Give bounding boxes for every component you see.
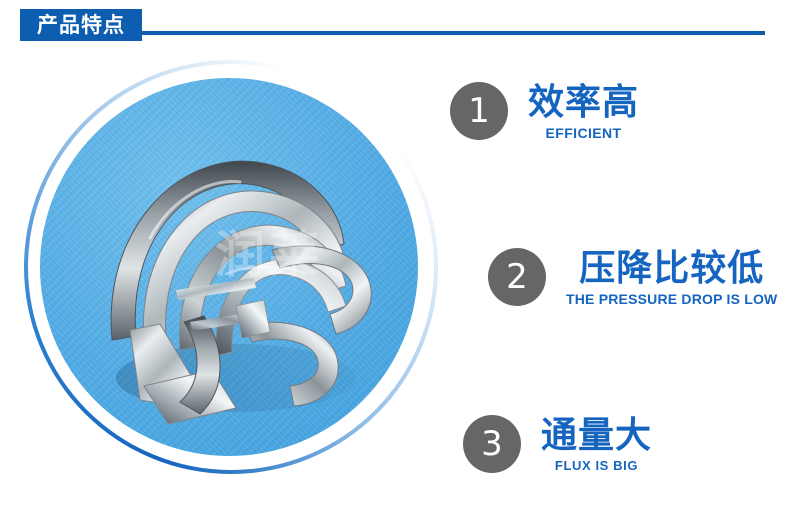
feature-item-efficient: 1 效率高 EFFICIENT (450, 82, 639, 142)
section-header: 产品特点 (0, 0, 790, 55)
feature-subtitle-en: THE PRESSURE DROP IS LOW (566, 291, 777, 308)
feature-number-badge: 2 (488, 248, 546, 306)
feature-list: 1 效率高 EFFICIENT 2 压降比较低 THE PRESSURE DRO… (445, 60, 785, 512)
feature-item-flux: 3 通量大 FLUX IS BIG (463, 415, 652, 473)
feature-title-cn: 通量大 (541, 417, 652, 456)
feature-subtitle-en: EFFICIENT (546, 125, 622, 142)
feature-title-cn: 压降比较低 (579, 250, 764, 289)
section-title-label: 产品特点 (37, 15, 125, 36)
feature-text-block: 通量大 FLUX IS BIG (541, 415, 652, 473)
section-title-tab: 产品特点 (20, 9, 142, 41)
feature-title-cn: 效率高 (528, 84, 639, 123)
product-features-page: 产品特点 (0, 0, 790, 517)
feature-number-badge: 1 (450, 82, 508, 140)
feature-item-pressure-drop: 2 压降比较低 THE PRESSURE DROP IS LOW (488, 248, 777, 308)
feature-text-block: 效率高 EFFICIENT (528, 82, 639, 142)
feature-number-badge: 3 (463, 415, 521, 473)
feature-subtitle-en: FLUX IS BIG (555, 458, 638, 474)
metal-packing-ring-illustration (40, 78, 418, 456)
photo-circular-frame: 润莱 (40, 78, 418, 456)
feature-text-block: 压降比较低 THE PRESSURE DROP IS LOW (566, 248, 777, 308)
product-photo: 润莱 (18, 56, 450, 496)
